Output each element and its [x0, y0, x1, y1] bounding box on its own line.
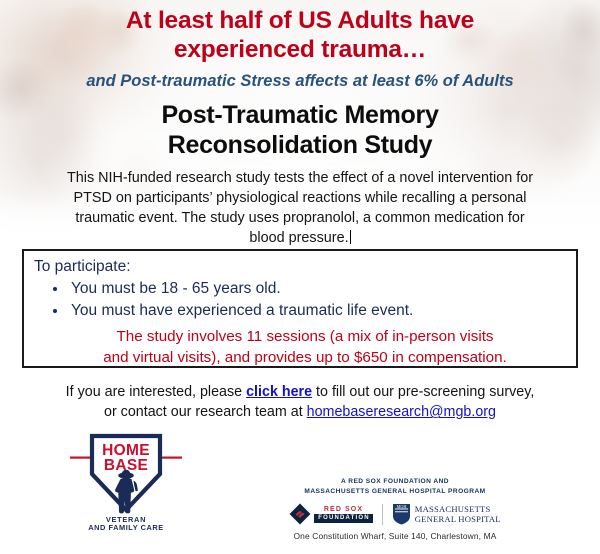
study-title-line-2: Reconsolidation Study	[0, 131, 600, 160]
list-item: You must be 18 - 65 years old.	[68, 278, 576, 300]
headline-line-2: experienced trauma…	[0, 35, 600, 64]
logo-divider	[382, 504, 383, 525]
subheadline: and Post-traumatic Stress affects at lea…	[0, 71, 600, 92]
contact-line-1-prefix: If you are interested, please	[66, 384, 246, 400]
participation-box: To participate: You must be 18 - 65 year…	[22, 249, 578, 368]
text-cursor-caret	[350, 230, 351, 244]
footer-logo-row: RED SOX FOUNDATION MGH MASSACHUSETTS GEN…	[190, 503, 600, 525]
footer-address: One Constitution Wharf, Suite 140, Charl…	[190, 531, 600, 541]
red-sox-diamond-icon	[289, 503, 311, 525]
flyer-content: At least half of US Adults have experien…	[0, 0, 600, 248]
participation-lead: To participate:	[34, 258, 576, 277]
mgh-shield-icon: MGH	[392, 503, 411, 525]
headline-line-1: At least half of US Adults have	[126, 7, 474, 34]
study-title-line-1: Post-Traumatic Memory	[161, 101, 438, 129]
compensation-note-line-2: and virtual visits), and provides up to …	[60, 348, 550, 368]
flyer-page: At least half of US Adults have experien…	[0, 0, 600, 554]
mass-general-hospital-logo: MGH MASSACHUSETTS GENERAL HOSPITAL	[392, 503, 501, 525]
footer-tagline-line-2: MASSACHUSETTS GENERAL HOSPITAL PROGRAM	[190, 487, 600, 497]
footer-tagline: A RED SOX FOUNDATION AND MASSACHUSETTS G…	[190, 477, 600, 497]
footer-tagline-line-1: A RED SOX FOUNDATION AND	[190, 477, 600, 487]
red-sox-foundation-logo: RED SOX FOUNDATION	[289, 503, 373, 525]
contact-line-2-prefix: or contact our research team at	[104, 404, 307, 420]
contact-line-1-suffix: to fill out our pre-screening survey,	[312, 384, 534, 400]
list-item: You must have experienced a traumatic li…	[68, 300, 576, 322]
contact-line-1: If you are interested, please click here…	[0, 382, 600, 402]
mass-general-line-2: GENERAL HOSPITAL	[415, 514, 501, 524]
home-base-tagline-line-2: AND FAMILY CARE	[88, 523, 164, 532]
headline: At least half of US Adults have experien…	[0, 0, 600, 65]
study-description-text: This NIH-funded research study tests the…	[67, 170, 533, 246]
contact-line-2: or contact our research team at homebase…	[0, 402, 600, 422]
compensation-note: The study involves 11 sessions (a mix of…	[34, 327, 576, 368]
participation-box-inner: To participate: You must be 18 - 65 year…	[24, 251, 576, 368]
red-sox-word: RED SOX	[314, 506, 373, 513]
mass-general-line-1: MASSACHUSETTS	[415, 504, 501, 514]
mass-general-wordmark: MASSACHUSETTS GENERAL HOSPITAL	[415, 504, 501, 525]
study-title: Post-Traumatic Memory Reconsolidation St…	[0, 101, 600, 160]
compensation-note-line-1: The study involves 11 sessions (a mix of…	[116, 328, 493, 345]
study-description: This NIH-funded research study tests the…	[0, 169, 600, 249]
email-link[interactable]: homebaseresearch@mgb.org	[307, 404, 496, 420]
red-sox-foundation-wordmark: RED SOX FOUNDATION	[314, 506, 373, 523]
foundation-word: FOUNDATION	[314, 514, 373, 523]
participation-criteria-list: You must be 18 - 65 years old. You must …	[68, 278, 576, 321]
footer: A RED SOX FOUNDATION AND MASSACHUSETTS G…	[190, 477, 600, 541]
home-base-logo: HOME BASE VETERAN AND FAMILY CARE	[70, 430, 182, 534]
click-here-link[interactable]: click here	[246, 384, 312, 400]
contact-block: If you are interested, please click here…	[0, 382, 600, 423]
home-base-logo-icon: HOME BASE VETERAN AND FAMILY CARE	[70, 430, 182, 534]
mgh-monogram: MGH	[396, 504, 406, 509]
